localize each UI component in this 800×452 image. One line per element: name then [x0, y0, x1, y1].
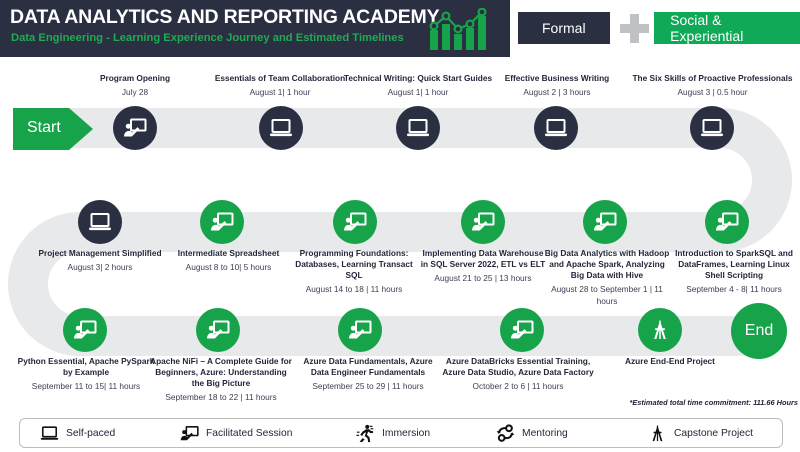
self-paced-icon: [40, 424, 59, 443]
badge-social[interactable]: Social & Experiential: [654, 12, 800, 44]
start-label: Start: [27, 119, 61, 137]
page-title: DATA ANALYTICS AND REPORTING ACADEMY: [10, 6, 439, 29]
roadmap-track: [0, 60, 800, 360]
node-title: Technical Writing: Quick Start Guides: [333, 73, 503, 84]
self-paced-icon: [700, 116, 724, 140]
self-paced-icon: [269, 116, 293, 140]
node-title: The Six Skills of Proactive Professional…: [625, 73, 800, 84]
node-title: Apache NiFi – A Complete Guide for Begin…: [148, 356, 294, 389]
label-r0-c4: The Six Skills of Proactive Professional…: [625, 73, 800, 99]
label-r2-c1: Apache NiFi – A Complete Guide for Begin…: [148, 356, 294, 404]
node-date: September 11 to 15| 11 hours: [16, 381, 156, 393]
node-r2-c3[interactable]: [500, 308, 544, 352]
facilitated-session-icon: [206, 318, 230, 342]
self-paced-icon: [406, 116, 430, 140]
node-title: Azure DataBricks Essential Training, Azu…: [442, 356, 594, 378]
node-date: September 18 to 22 | 11 hours: [148, 392, 294, 404]
label-r1-c5: Introduction to SparkSQL and DataFrames,…: [670, 248, 798, 296]
node-title: Intermediate Spreadsheet: [166, 248, 291, 259]
legend: Self-paced Facilitated Session Immersion: [19, 418, 783, 448]
badge-formal[interactable]: Formal: [518, 12, 610, 44]
capstone-project-icon: [648, 424, 667, 443]
category-badges: Formal Social & Experiential: [518, 12, 800, 44]
label-r2-c3: Azure DataBricks Essential Training, Azu…: [442, 356, 594, 393]
node-r0-c0[interactable]: [113, 106, 157, 150]
node-r0-c2[interactable]: [396, 106, 440, 150]
self-paced-icon: [544, 116, 568, 140]
label-r2-c2: Azure Data Fundamentals, Azure Data Engi…: [294, 356, 442, 393]
node-date: August 3| 2 hours: [30, 262, 170, 274]
node-date: September 25 to 29 | 11 hours: [294, 381, 442, 393]
node-title: Python Essential, Apache PySpark by Exam…: [16, 356, 156, 378]
node-title: Project Management Simplified: [30, 248, 170, 259]
node-date: August 2 | 3 hours: [486, 87, 628, 99]
facilitated-session-icon: [180, 424, 199, 443]
legend-item-self-paced[interactable]: Self-paced: [40, 419, 115, 447]
facilitated-session-icon: [510, 318, 534, 342]
label-r2-c0: Python Essential, Apache PySpark by Exam…: [16, 356, 156, 393]
legend-item-capstone-project[interactable]: Capstone Project: [648, 419, 753, 447]
node-title: Big Data Analytics with Hadoop and Apach…: [543, 248, 671, 281]
node-r1-c3[interactable]: [461, 200, 505, 244]
node-r1-c2[interactable]: [333, 200, 377, 244]
label-r0-c0: Program Opening July 28: [75, 73, 195, 99]
node-r1-c1[interactable]: [200, 200, 244, 244]
label-r1-c2: Programming Foundations: Databases, Lear…: [292, 248, 416, 296]
node-date: August 3 | 0.5 hour: [625, 87, 800, 99]
label-r0-c3: Effective Business Writing August 2 | 3 …: [486, 73, 628, 99]
node-title: Azure Data Fundamentals, Azure Data Engi…: [294, 356, 442, 378]
label-r1-c1: Intermediate Spreadsheet August 8 to 10|…: [166, 248, 291, 274]
legend-item-immersion[interactable]: Immersion: [356, 419, 430, 447]
capstone-project-icon: [648, 318, 672, 342]
legend-label: Immersion: [382, 428, 430, 439]
legend-label: Capstone Project: [674, 428, 753, 439]
node-r1-c5[interactable]: [705, 200, 749, 244]
node-date: August 21 to 25 | 13 hours: [420, 273, 546, 285]
infographic-root: DATA ANALYTICS AND REPORTING ACADEMY Dat…: [0, 0, 800, 452]
node-date: August 8 to 10| 5 hours: [166, 262, 291, 274]
label-r1-c0: Project Management Simplified August 3| …: [30, 248, 170, 274]
self-paced-icon: [88, 210, 112, 234]
immersion-icon: [356, 424, 375, 443]
facilitated-session-icon: [471, 210, 495, 234]
node-r2-c0[interactable]: [63, 308, 107, 352]
node-date: August 28 to September 1 | 11 hours: [543, 284, 671, 307]
legend-item-mentoring[interactable]: Mentoring: [496, 419, 568, 447]
node-title: Implementing Data Warehouse in SQL Serve…: [420, 248, 546, 270]
node-date: July 28: [75, 87, 195, 99]
legend-label: Facilitated Session: [206, 428, 292, 439]
facilitated-session-icon: [715, 210, 739, 234]
footnote: *Estimated total time commitment: 111.66…: [612, 398, 798, 407]
node-r0-c1[interactable]: [259, 106, 303, 150]
legend-label: Self-paced: [66, 428, 115, 439]
label-r2-c4: Azure End-End Project: [600, 356, 740, 370]
node-title: Effective Business Writing: [486, 73, 628, 84]
legend-item-facilitated-session[interactable]: Facilitated Session: [180, 419, 292, 447]
facilitated-session-icon: [210, 210, 234, 234]
node-r0-c4[interactable]: [690, 106, 734, 150]
node-r1-c4[interactable]: [583, 200, 627, 244]
node-r1-c0[interactable]: [78, 200, 122, 244]
node-title: Program Opening: [75, 73, 195, 84]
node-title: Introduction to SparkSQL and DataFrames,…: [670, 248, 798, 281]
start-label-wrap: Start: [13, 108, 93, 150]
facilitated-session-icon: [343, 210, 367, 234]
node-date: August 1| 1 hour: [333, 87, 503, 99]
label-r1-c3: Implementing Data Warehouse in SQL Serve…: [420, 248, 546, 285]
node-date: October 2 to 6 | 11 hours: [442, 381, 594, 393]
facilitated-session-icon: [593, 210, 617, 234]
node-r2-c4[interactable]: [638, 308, 682, 352]
mentoring-icon: [496, 424, 515, 443]
header-banner: DATA ANALYTICS AND REPORTING ACADEMY Dat…: [0, 0, 510, 57]
page-subtitle: Data Engineering - Learning Experience J…: [11, 32, 404, 44]
node-r2-c2[interactable]: [338, 308, 382, 352]
label-r1-c4: Big Data Analytics with Hadoop and Apach…: [543, 248, 671, 307]
node-date: August 14 to 18 | 11 hours: [292, 284, 416, 296]
node-date: September 4 - 8| 11 hours: [670, 284, 798, 296]
legend-label: Mentoring: [522, 428, 568, 439]
node-r0-c3[interactable]: [534, 106, 578, 150]
facilitated-session-icon: [123, 116, 147, 140]
node-title: Programming Foundations: Databases, Lear…: [292, 248, 416, 281]
bar-chart-line-icon: [428, 8, 490, 52]
end-marker: End: [731, 303, 787, 359]
facilitated-session-icon: [73, 318, 97, 342]
plus-icon: [619, 13, 646, 43]
label-r0-c2: Technical Writing: Quick Start Guides Au…: [333, 73, 503, 99]
node-r2-c1[interactable]: [196, 308, 240, 352]
facilitated-session-icon: [348, 318, 372, 342]
node-title: Azure End-End Project: [600, 356, 740, 367]
